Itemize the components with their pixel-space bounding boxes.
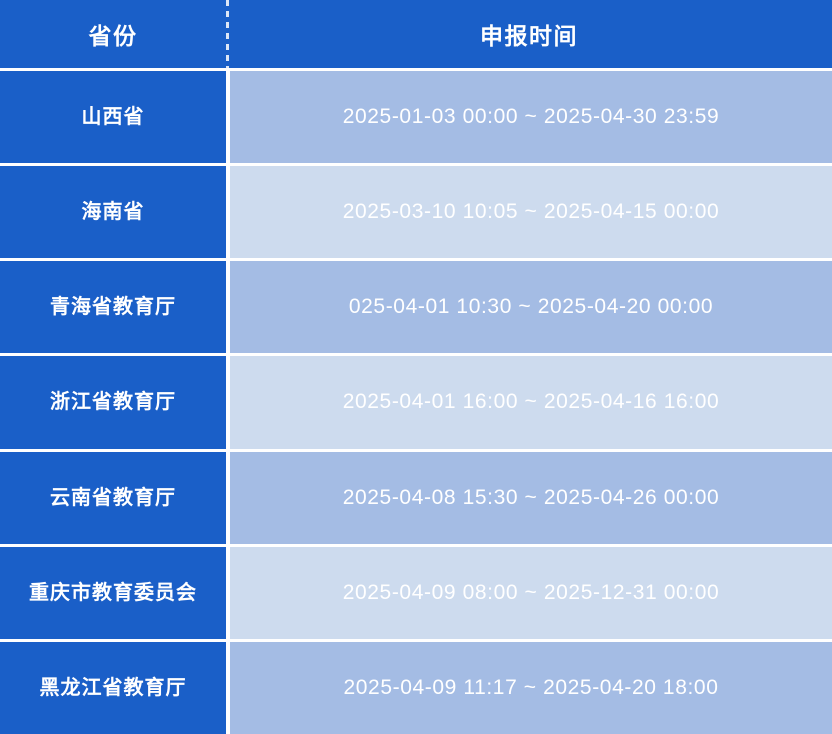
cell-province: 海南省 — [0, 166, 226, 258]
cell-province: 重庆市教育委员会 — [0, 547, 226, 639]
cell-declaration-time: 2025-04-01 16:00 ~ 2025-04-16 16:00 — [230, 356, 832, 448]
table-row: 云南省教育厅 2025-04-08 15:30 ~ 2025-04-26 00:… — [0, 452, 832, 544]
cell-declaration-time: 2025-01-03 00:00 ~ 2025-04-30 23:59 — [230, 71, 832, 163]
cell-declaration-time: 2025-03-10 10:05 ~ 2025-04-15 00:00 — [230, 166, 832, 258]
table-row: 浙江省教育厅 2025-04-01 16:00 ~ 2025-04-16 16:… — [0, 356, 832, 448]
column-header-declaration-time: 申报时间 — [226, 0, 832, 68]
table-row: 青海省教育厅 025-04-01 10:30 ~ 2025-04-20 00:0… — [0, 261, 832, 353]
table-row: 山西省 2025-01-03 00:00 ~ 2025-04-30 23:59 — [0, 71, 832, 163]
column-header-province: 省份 — [0, 0, 226, 68]
table-row: 海南省 2025-03-10 10:05 ~ 2025-04-15 00:00 — [0, 166, 832, 258]
declaration-schedule-table: 省份 申报时间 山西省 2025-01-03 00:00 ~ 2025-04-3… — [0, 0, 832, 734]
cell-province: 浙江省教育厅 — [0, 356, 226, 448]
table-row: 黑龙江省教育厅 2025-04-09 11:17 ~ 2025-04-20 18… — [0, 642, 832, 734]
cell-province: 山西省 — [0, 71, 226, 163]
cell-declaration-time: 2025-04-09 08:00 ~ 2025-12-31 00:00 — [230, 547, 832, 639]
cell-declaration-time: 2025-04-09 11:17 ~ 2025-04-20 18:00 — [230, 642, 832, 734]
cell-declaration-time: 2025-04-08 15:30 ~ 2025-04-26 00:00 — [230, 452, 832, 544]
cell-province: 云南省教育厅 — [0, 452, 226, 544]
cell-province: 黑龙江省教育厅 — [0, 642, 226, 734]
cell-province: 青海省教育厅 — [0, 261, 226, 353]
cell-declaration-time: 025-04-01 10:30 ~ 2025-04-20 00:00 — [230, 261, 832, 353]
table-row: 重庆市教育委员会 2025-04-09 08:00 ~ 2025-12-31 0… — [0, 547, 832, 639]
table-body: 山西省 2025-01-03 00:00 ~ 2025-04-30 23:59 … — [0, 68, 832, 734]
table-header-row: 省份 申报时间 — [0, 0, 832, 68]
header-column-divider — [226, 0, 229, 68]
